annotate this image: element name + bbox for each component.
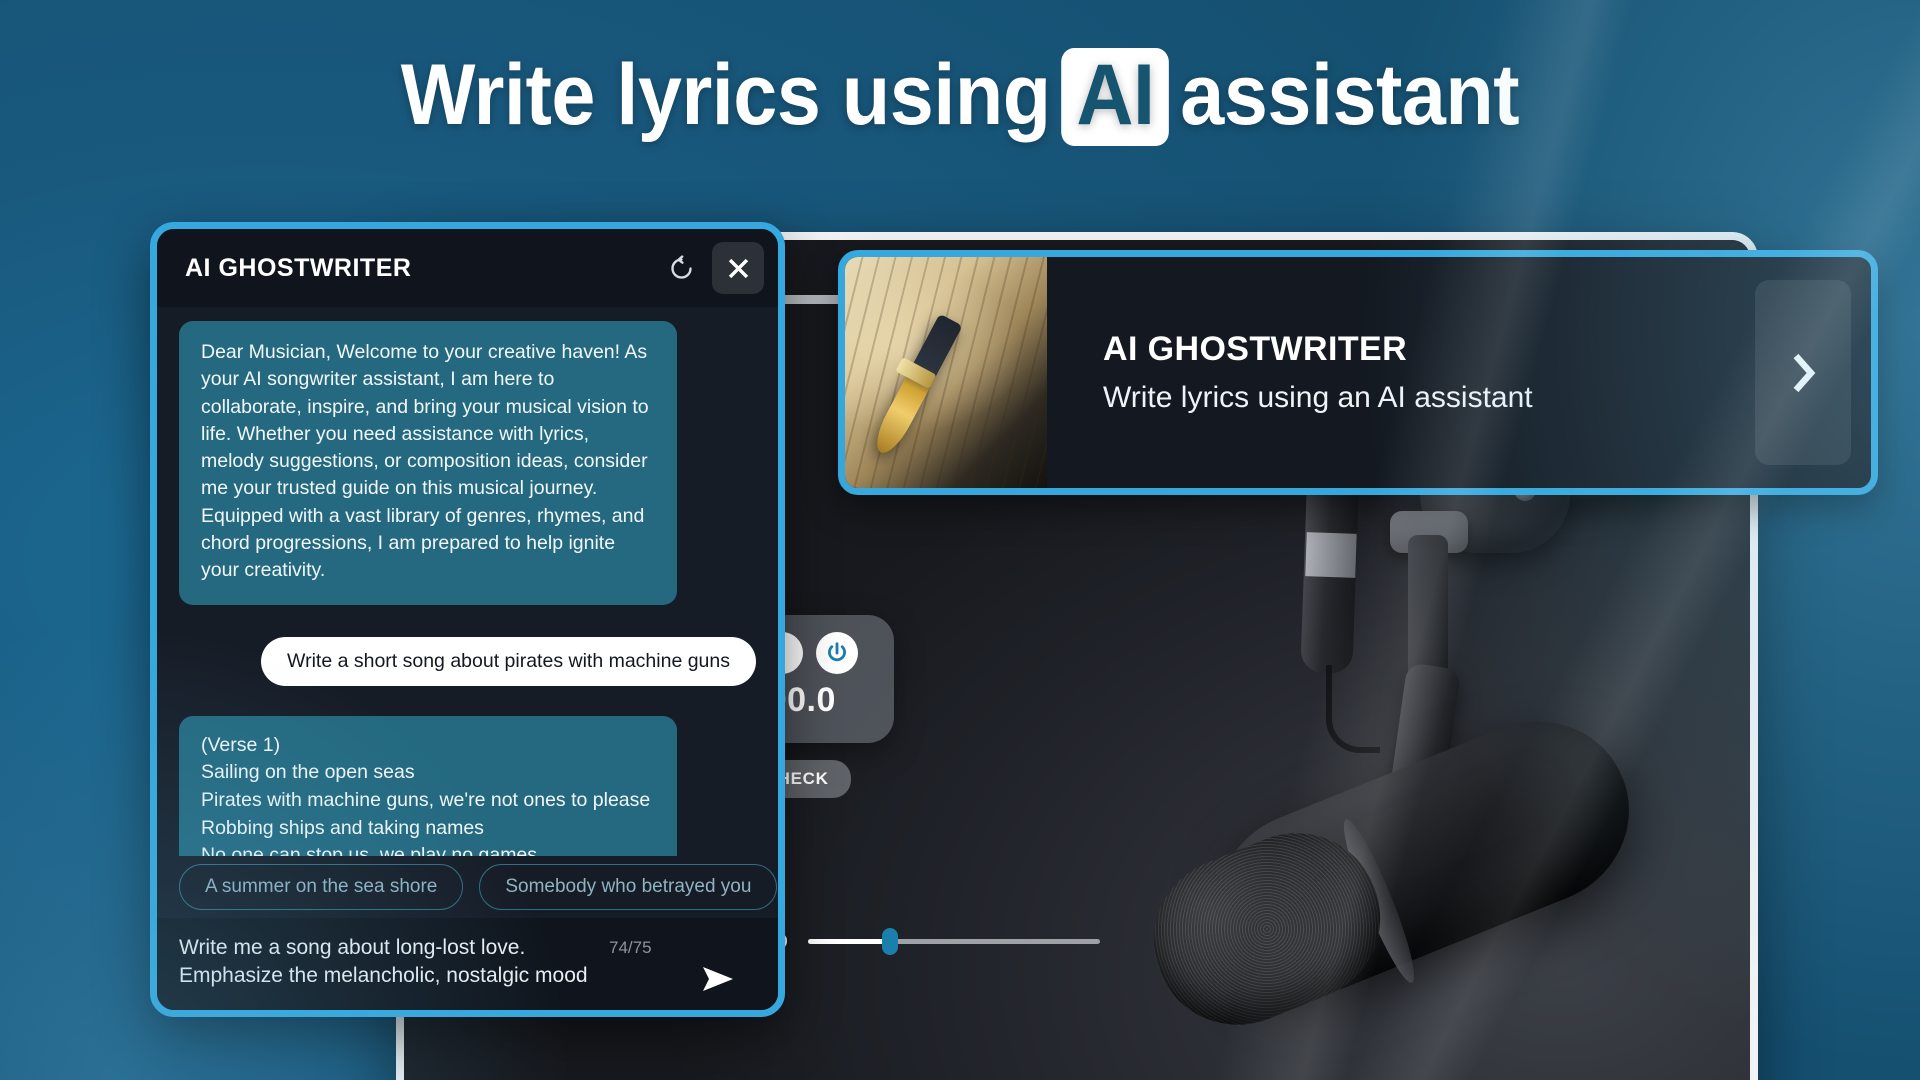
suggestion-chip-2[interactable]: Somebody who betrayed you xyxy=(479,864,777,910)
chat-message-list[interactable]: Dear Musician, Welcome to your creative … xyxy=(157,307,778,856)
chat-message-user: Write a short song about pirates with ma… xyxy=(261,637,756,686)
chat-input-field[interactable]: Write me a song about long-lost love. Em… xyxy=(179,934,599,990)
ai-badge: AI xyxy=(1062,48,1170,146)
feature-card-ai-ghostwriter[interactable]: AI GHOSTWRITER Write lyrics using an AI … xyxy=(838,250,1878,495)
reset-icon xyxy=(668,255,695,282)
send-button[interactable] xyxy=(700,964,736,994)
feature-card-title: AI GHOSTWRITER xyxy=(1103,330,1755,369)
character-counter: 74/75 xyxy=(609,938,652,958)
feature-card-text: AI GHOSTWRITER Write lyrics using an AI … xyxy=(1047,257,1755,488)
feature-card-thumbnail xyxy=(845,257,1047,488)
feature-card-subtitle: Write lyrics using an AI assistant xyxy=(1103,381,1755,415)
suggestion-chips-row[interactable]: A summer on the sea shore Somebody who b… xyxy=(157,856,778,918)
close-icon xyxy=(725,255,752,282)
send-icon xyxy=(700,964,736,994)
microphone-photo xyxy=(1090,415,1750,1080)
chat-panel-title: AI GHOSTWRITER xyxy=(185,254,658,283)
page-title: Write lyrics usingAIassistant xyxy=(77,48,1843,146)
manuscript-handwriting xyxy=(845,257,1047,488)
volume-control[interactable] xyxy=(764,930,1100,952)
chat-input-bar: Write me a song about long-lost love. Em… xyxy=(157,918,778,1010)
mic-xlr-band xyxy=(1305,532,1357,578)
page-title-after: assistant xyxy=(1180,47,1519,143)
page-title-before: Write lyrics using xyxy=(401,47,1051,143)
chat-message-assistant-intro: Dear Musician, Welcome to your creative … xyxy=(179,321,677,605)
volume-slider-track[interactable] xyxy=(808,939,1100,944)
power-icon xyxy=(824,640,850,666)
volume-slider-fill xyxy=(808,939,890,944)
reset-button[interactable] xyxy=(658,245,704,291)
app-background: Write lyrics usingAIassistant xyxy=(0,0,1920,1080)
power-button[interactable] xyxy=(816,632,858,674)
chat-panel-header: AI GHOSTWRITER xyxy=(157,229,778,307)
volume-slider-thumb[interactable] xyxy=(882,928,898,955)
chevron-right-icon xyxy=(1786,348,1820,398)
close-button[interactable] xyxy=(712,242,764,294)
mic-cable xyxy=(1326,665,1380,753)
suggestion-chip-1[interactable]: A summer on the sea shore xyxy=(179,864,463,910)
chat-message-assistant-lyrics: (Verse 1) Sailing on the open seas Pirat… xyxy=(179,716,677,856)
ai-ghostwriter-chat-panel: AI GHOSTWRITER Dear Musician, Welcome to… xyxy=(150,222,785,1017)
chat-message-user-row: Write a short song about pirates with ma… xyxy=(179,605,756,686)
feature-card-open-button[interactable] xyxy=(1755,280,1851,465)
